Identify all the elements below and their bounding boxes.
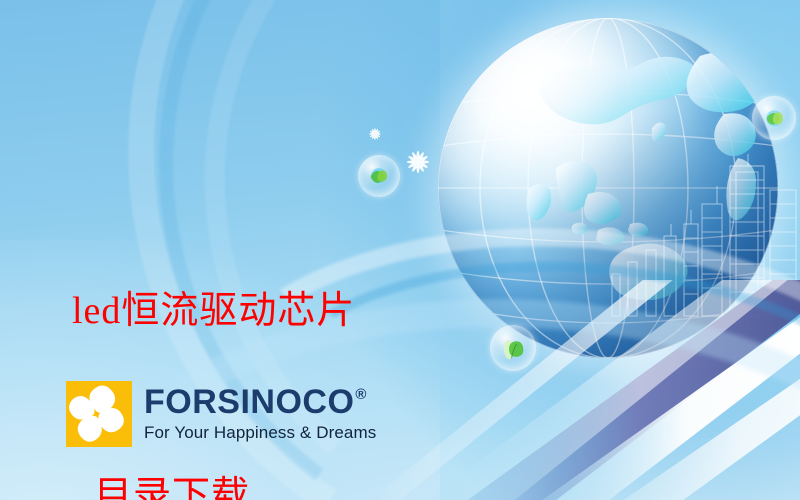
registered-trademark-icon: ® xyxy=(355,387,367,402)
bubble-globe-icon xyxy=(752,96,796,140)
headline-line-1: led恒流驱动芯片 xyxy=(72,281,432,343)
pinwheel-flower-icon xyxy=(66,381,132,447)
logo-wordmark: FORSINOCO ® xyxy=(144,385,376,419)
logo-name-text: FORSINOCO xyxy=(144,385,354,419)
company-logo: FORSINOCO ® For Your Happiness & Dreams xyxy=(66,381,376,447)
daisy-sparkle-icon xyxy=(366,125,384,143)
logo-tagline: For Your Happiness & Dreams xyxy=(144,423,376,443)
banner: led恒流驱动芯片 目录下载 FORSINOCO ® For Your Happ… xyxy=(0,0,800,500)
headline-line-2: 目录下载 xyxy=(72,466,432,500)
headline: led恒流驱动芯片 目录下载 xyxy=(72,158,432,500)
bubble-leaf-icon xyxy=(490,325,536,371)
diagonal-ribbon-icon xyxy=(380,280,800,500)
